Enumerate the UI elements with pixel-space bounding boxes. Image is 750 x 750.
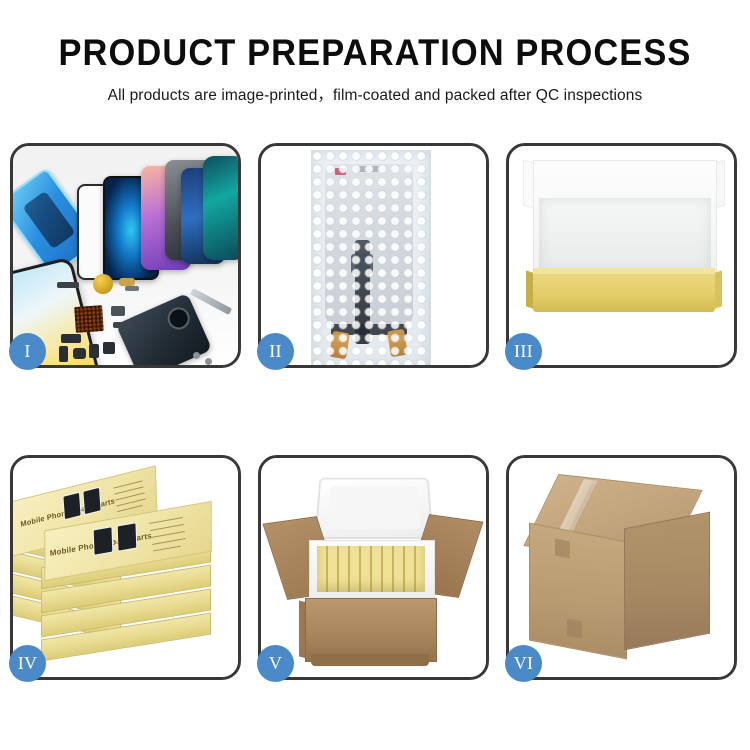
- foam-lid-inner: [328, 486, 421, 529]
- step-badge-2: II: [257, 333, 294, 370]
- step-badge-6: VI: [505, 645, 542, 682]
- screw-part: [205, 358, 212, 365]
- process-step-1: I: [10, 143, 241, 368]
- screw-part: [193, 352, 200, 359]
- foam-sheet: [539, 198, 711, 274]
- process-step-grid: I II: [10, 143, 741, 680]
- spare-part: [73, 348, 86, 359]
- yellow-boxes-inside: [317, 546, 425, 592]
- spare-part: [89, 344, 99, 358]
- page-subtitle: All products are image-printed，film-coat…: [0, 74, 750, 105]
- connector-grid-part: [74, 305, 104, 333]
- carton-seam-mark: [567, 619, 582, 639]
- process-step-2: II: [258, 143, 489, 368]
- red-label-mark: [335, 168, 346, 175]
- step-badge-4: IV: [9, 645, 46, 682]
- product-preparation-infographic: PRODUCT PREPARATION PROCESS All products…: [0, 0, 750, 750]
- spare-part: [103, 342, 115, 354]
- process-step-5: V: [258, 455, 489, 680]
- step-badge-5: V: [257, 645, 294, 682]
- step-3-image: [509, 146, 734, 365]
- carton-side-face: [624, 512, 710, 651]
- box-screen-thumb: [117, 522, 138, 552]
- box-screen-thumb: [82, 487, 101, 516]
- screen-notch: [355, 166, 381, 172]
- tweezers-tool: [190, 288, 232, 315]
- box-screen-thumb: [62, 492, 81, 521]
- step-badge-3: III: [505, 333, 542, 370]
- spare-part: [111, 306, 125, 316]
- vibration-motor-part: [93, 274, 113, 294]
- carton-bottom-edge: [311, 654, 429, 666]
- spare-part: [59, 346, 68, 362]
- box-screen-thumb: [93, 526, 114, 556]
- spare-part: [125, 286, 139, 291]
- spare-part: [61, 334, 81, 343]
- step-1-image: [13, 146, 238, 365]
- process-step-3: III: [506, 143, 737, 368]
- page-title: PRODUCT PREPARATION PROCESS: [26, 0, 724, 74]
- process-step-4: Mobile Phone Spare Parts Mobile Phone Sp…: [10, 455, 241, 680]
- carton-hand-hole: [555, 539, 570, 559]
- step-badge-1: I: [9, 333, 46, 370]
- step-6-image: [509, 458, 734, 677]
- carton-body: [305, 598, 437, 662]
- box-tray-front: [533, 274, 715, 312]
- spare-part: [57, 282, 79, 288]
- phone-teal: [203, 156, 238, 260]
- carton-front-face: [529, 522, 627, 659]
- spare-part: [113, 322, 131, 328]
- process-step-6: VI: [506, 455, 737, 680]
- header: PRODUCT PREPARATION PROCESS All products…: [0, 0, 750, 105]
- flex-ic-chip: [351, 254, 373, 274]
- spare-part: [119, 278, 135, 286]
- step-2-image: [261, 146, 486, 365]
- step-5-image: [261, 458, 486, 677]
- box-stack: Mobile Phone Spare Parts Mobile Phone Sp…: [13, 458, 238, 677]
- step-4-image: Mobile Phone Spare Parts Mobile Phone Sp…: [13, 458, 238, 677]
- foam-lid: [314, 478, 433, 539]
